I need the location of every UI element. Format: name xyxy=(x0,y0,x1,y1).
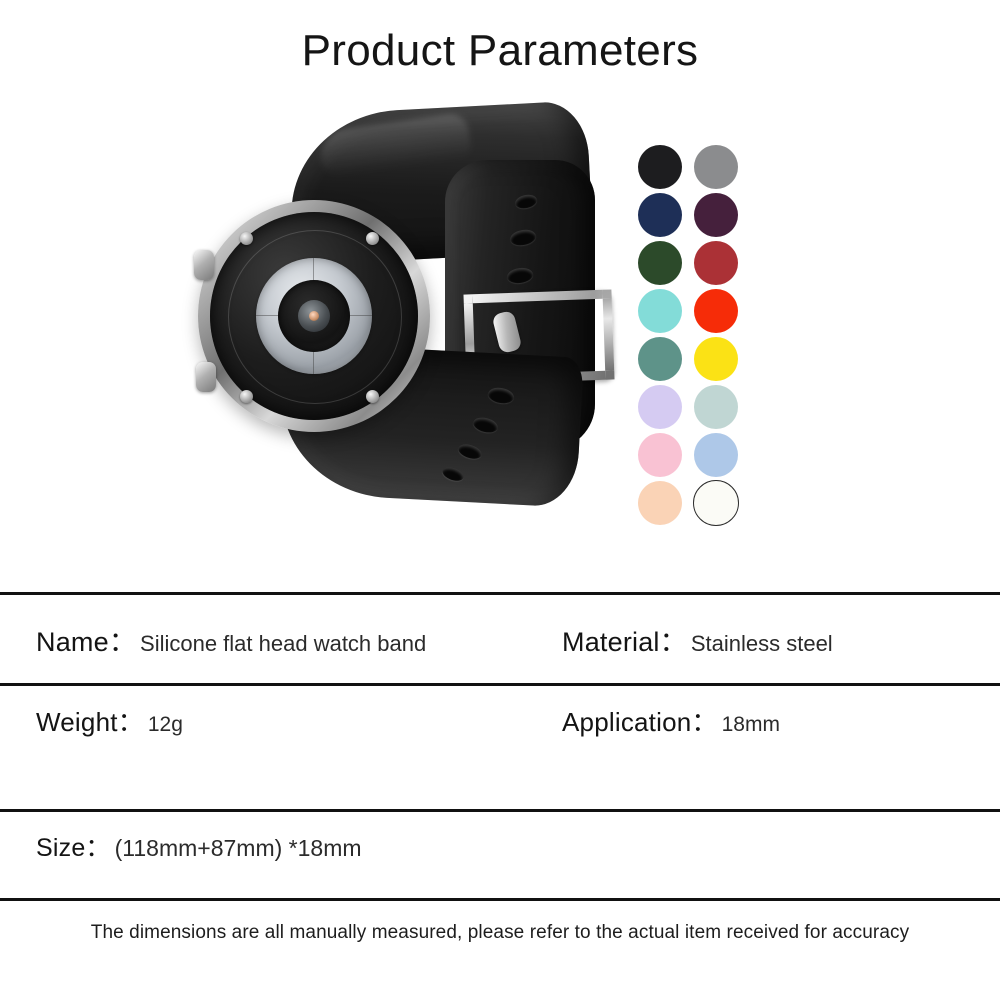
hero-section xyxy=(0,95,1000,565)
spec-value: Silicone flat head watch band xyxy=(140,631,426,657)
divider-line xyxy=(0,683,1000,686)
spec-cell-weight: Weight： 12g xyxy=(36,702,183,739)
case-screw xyxy=(240,232,253,245)
color-swatch-teal-green[interactable] xyxy=(638,337,682,381)
color-swatch-turquoise[interactable] xyxy=(638,289,682,333)
color-swatch-peach[interactable] xyxy=(638,481,682,525)
spec-label: Application： xyxy=(562,702,718,739)
spec-cell-name: Name： Silicone flat head watch band xyxy=(36,620,426,659)
spec-label: Weight： xyxy=(36,702,144,739)
color-swatch-yellow[interactable] xyxy=(694,337,738,381)
spec-value: 18mm xyxy=(722,713,780,737)
spec-label: Size： xyxy=(36,828,111,864)
color-swatch-bright-red[interactable] xyxy=(694,289,738,333)
spec-label: Material： xyxy=(562,620,687,659)
color-swatch-black[interactable] xyxy=(638,145,682,189)
case-screw xyxy=(366,390,379,403)
spec-cell-size: Size： (118mm+87mm) *18mm xyxy=(36,828,362,864)
color-swatch-lavender[interactable] xyxy=(638,385,682,429)
spec-value: 12g xyxy=(148,713,183,737)
color-swatch-grid xyxy=(636,143,736,527)
color-swatch-pink[interactable] xyxy=(638,433,682,477)
spec-value: Stainless steel xyxy=(691,631,833,657)
spec-cell-application: Application： 18mm xyxy=(562,702,780,739)
color-swatch-gray[interactable] xyxy=(694,145,738,189)
color-swatch-light-blue[interactable] xyxy=(694,433,738,477)
color-swatch-navy-blue[interactable] xyxy=(638,193,682,237)
sensor-led-icon xyxy=(309,311,319,321)
color-swatch-brick-red[interactable] xyxy=(694,241,738,285)
color-swatch-white[interactable] xyxy=(693,480,739,526)
divider-line xyxy=(0,898,1000,901)
spec-cell-material: Material： Stainless steel xyxy=(562,620,833,659)
spec-value: (118mm+87mm) *18mm xyxy=(115,835,362,862)
color-swatch-pale-aqua[interactable] xyxy=(694,385,738,429)
watch-side-button-bottom xyxy=(196,362,216,392)
spec-row: Weight： 12g Application： 18mm xyxy=(0,702,1000,762)
color-swatch-dark-plum[interactable] xyxy=(694,193,738,237)
divider-line xyxy=(0,592,1000,595)
measurement-disclaimer: The dimensions are all manually measured… xyxy=(0,922,1000,944)
product-parameters-page: Product Parameters xyxy=(0,0,1000,1000)
spec-label: Name： xyxy=(36,620,136,659)
spec-row: Name： Silicone flat head watch band Mate… xyxy=(0,620,1000,680)
watch-side-button-top xyxy=(194,250,214,280)
case-screw xyxy=(240,390,253,403)
spec-row: Size： (118mm+87mm) *18mm xyxy=(0,828,1000,884)
page-title: Product Parameters xyxy=(0,26,1000,76)
case-screw xyxy=(366,232,379,245)
divider-line xyxy=(0,809,1000,812)
color-swatch-dark-green[interactable] xyxy=(638,241,682,285)
product-image-watch-band xyxy=(170,100,620,550)
